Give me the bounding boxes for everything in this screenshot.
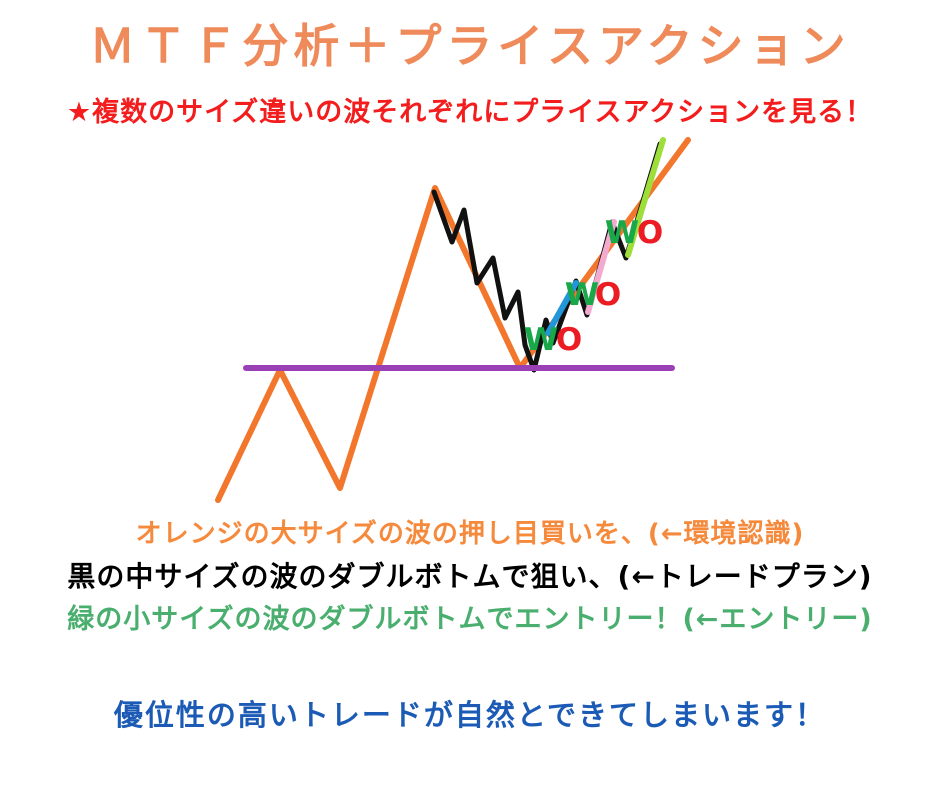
- poster-canvas: ＭＴＦ分析＋プライスアクション ★複数のサイズ違いの波それぞれにプライスアクショ…: [0, 0, 940, 788]
- subtitle-text: 複数のサイズ違いの波それぞれにプライスアクションを見る！: [92, 97, 873, 128]
- caption-green: 緑の小サイズの波のダブルボトムでエントリー！(←エントリー): [0, 604, 940, 635]
- subtitle: ★複数のサイズ違いの波それぞれにプライスアクションを見る！: [0, 90, 940, 129]
- chart-canvas: WOWOWO: [0, 125, 940, 515]
- wave-large-wave-orange: [218, 140, 688, 500]
- caption-block: オレンジの大サイズの波の押し目買いを、(←環境認識) 黒の中サイズの波のダブルボ…: [0, 520, 940, 635]
- closing-statement: 優位性の高いトレードが自然とできてしまいます！: [0, 692, 940, 734]
- entry-o-marker: O: [556, 322, 582, 358]
- caption-black: 黒の中サイズの波のダブルボトムで狙い、(←トレードプラン): [0, 561, 940, 593]
- star-icon: ★: [67, 97, 92, 128]
- double-bottom-w-marker: W: [605, 215, 639, 251]
- mtf-wave-chart: WOWOWO: [0, 125, 940, 515]
- entry-o-marker: O: [595, 277, 621, 313]
- caption-orange: オレンジの大サイズの波の押し目買いを、(←環境認識): [0, 520, 940, 550]
- double-bottom-w-marker: W: [524, 322, 558, 358]
- page-title: ＭＴＦ分析＋プライスアクション: [0, 10, 940, 76]
- entry-o-marker: O: [637, 215, 663, 251]
